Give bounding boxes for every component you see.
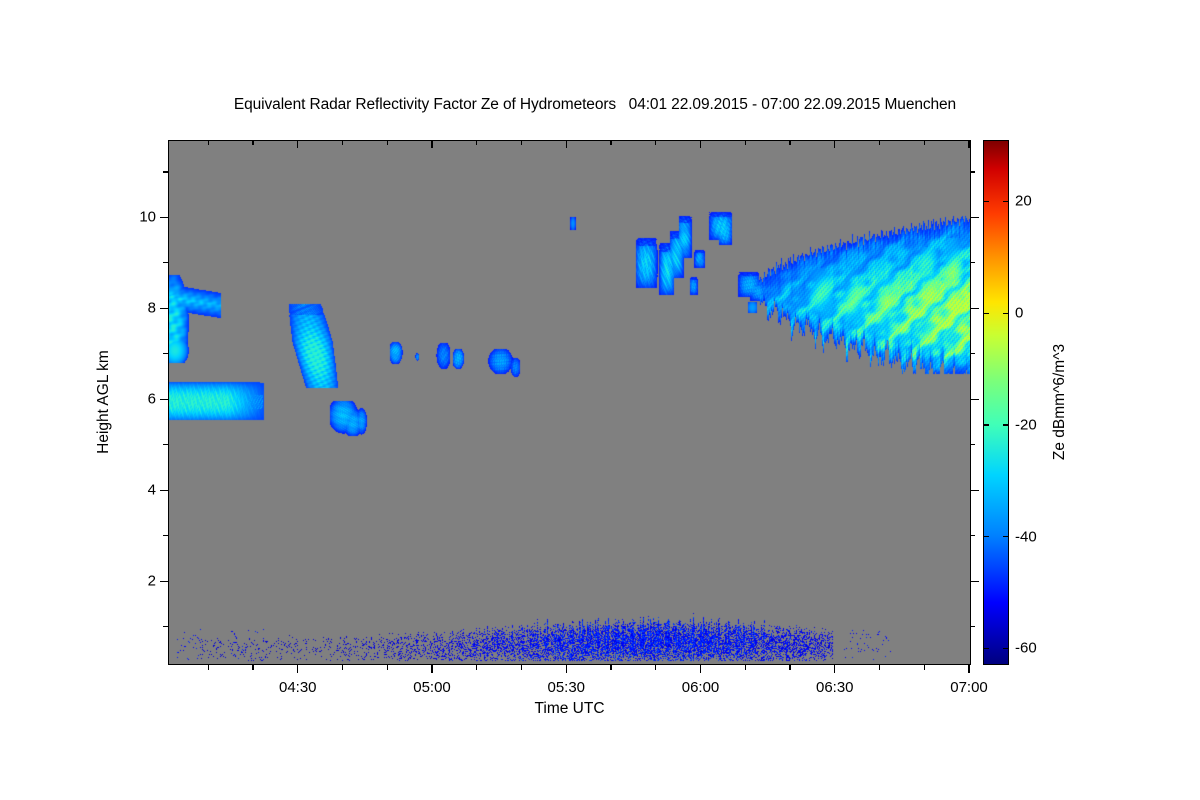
plot-area[interactable] [168,140,971,665]
colorbar-tick [1003,536,1009,537]
y-tick-major-right [971,308,979,309]
colorbar-tick-label: -60 [1015,640,1037,657]
x-tick-major-top [297,140,298,148]
x-tick-minor [521,665,522,670]
colorbar-tick-left [983,313,989,314]
x-tick-minor [655,665,656,670]
x-tick-major [968,665,969,673]
y-tick-minor [163,171,168,172]
y-tick-major [160,399,168,400]
y-tick-minor-right [970,626,975,627]
y-tick-major [160,217,168,218]
colorbar-tick-label: 20 [1015,193,1032,210]
y-tick-major-right [971,399,979,400]
y-tick-major-right [971,581,979,582]
x-tick-minor-top [610,140,611,145]
figure-title: Equivalent Radar Reflectivity Factor Ze … [0,96,1190,114]
y-tick-major-right [971,490,979,491]
x-tick-major-top [431,140,432,148]
y-tick-major [160,581,168,582]
y-tick-minor-right [970,262,975,263]
radar-reflectivity-figure: Equivalent Radar Reflectivity Factor Ze … [0,0,1200,800]
y-tick-label: 6 [112,391,156,408]
x-tick-minor-top [387,140,388,145]
x-tick-major-top [834,140,835,148]
x-tick-minor [924,665,925,670]
colorbar-tick [1003,201,1009,202]
x-tick-label: 06:30 [816,679,854,696]
x-tick-major-top [968,140,969,148]
colorbar-tick-label: 0 [1015,305,1023,322]
colorbar-tick-label: -20 [1015,416,1037,433]
x-tick-minor [387,665,388,670]
y-tick-minor [163,626,168,627]
x-tick-label: 07:00 [950,679,988,696]
x-tick-major [834,665,835,673]
x-tick-major [700,665,701,673]
y-tick-minor [163,353,168,354]
y-tick-label: 2 [112,573,156,590]
colorbar-tick-left [983,648,989,649]
x-tick-minor [208,665,209,670]
y-tick-label: 8 [112,300,156,317]
y-tick-minor-right [970,444,975,445]
x-tick-major-top [700,140,701,148]
x-tick-major-top [566,140,567,148]
x-tick-minor-top [924,140,925,145]
y-tick-major [160,308,168,309]
x-axis-title: Time UTC [168,700,971,718]
colorbar-tick [1003,648,1009,649]
x-tick-minor [476,665,477,670]
colorbar-title: Ze dBmm^6/m^3 [1051,344,1069,460]
colorbar-tick [1003,424,1009,425]
x-tick-minor-top [208,140,209,145]
x-tick-minor [252,665,253,670]
y-tick-label: 4 [112,482,156,499]
y-tick-label: 10 [112,209,156,226]
x-tick-major [566,665,567,673]
x-tick-label: 06:00 [682,679,720,696]
reflectivity-heatmap [169,141,970,664]
x-tick-minor [789,665,790,670]
x-tick-minor [745,665,746,670]
x-tick-label: 05:30 [547,679,585,696]
colorbar-tick-left [983,424,989,425]
y-tick-major [160,490,168,491]
y-tick-minor-right [970,171,975,172]
x-tick-minor [879,665,880,670]
colorbar-tick [1003,313,1009,314]
y-tick-major-right [971,217,979,218]
colorbar-tick-left [983,201,989,202]
y-tick-minor [163,262,168,263]
x-tick-minor-top [521,140,522,145]
x-tick-label: 05:00 [413,679,451,696]
y-tick-minor [163,444,168,445]
x-tick-minor-top [655,140,656,145]
x-tick-minor-top [252,140,253,145]
x-tick-minor-top [745,140,746,145]
x-tick-minor-top [879,140,880,145]
colorbar-tick-left [983,536,989,537]
colorbar[interactable] [983,140,1009,665]
y-tick-minor [163,535,168,536]
x-tick-minor-top [342,140,343,145]
x-tick-minor-top [789,140,790,145]
x-tick-label: 04:30 [279,679,317,696]
y-tick-minor-right [970,535,975,536]
x-tick-major [431,665,432,673]
x-tick-minor [342,665,343,670]
colorbar-gradient [984,141,1008,664]
colorbar-tick-label: -40 [1015,528,1037,545]
x-tick-minor-top [476,140,477,145]
y-axis-title: Height AGL km [95,350,113,454]
x-tick-minor [610,665,611,670]
x-tick-major [297,665,298,673]
y-tick-minor-right [970,353,975,354]
